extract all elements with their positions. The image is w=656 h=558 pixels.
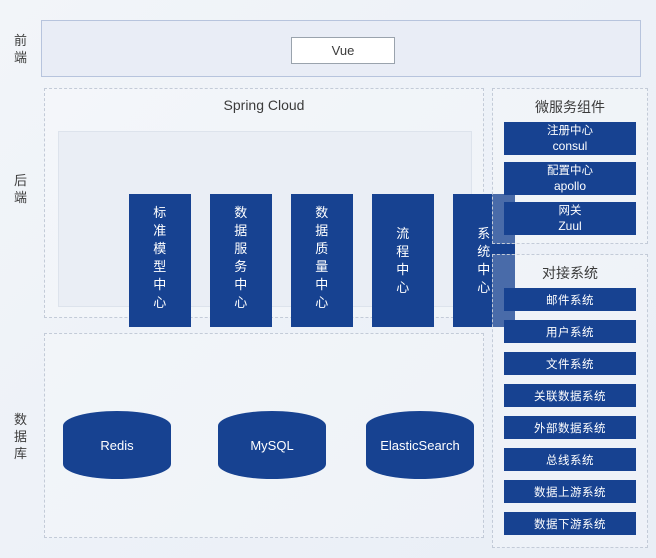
microservice-item[interactable]: 注册中心 consul — [504, 122, 636, 155]
microservice-item-tech: apollo — [504, 179, 636, 194]
docking-system-item[interactable]: 数据下游系统 — [504, 512, 636, 535]
row-label-frontend: 前端 — [8, 32, 34, 66]
docking-systems-list: 邮件系统 用户系统 文件系统 关联数据系统 外部数据系统 总线系统 数据上游系统… — [504, 288, 636, 544]
spring-cloud-panel: Spring Cloud 标准模型中心 数据服务中心 数据质量中心 流程中心 系… — [44, 88, 484, 318]
docking-system-item[interactable]: 总线系统 — [504, 448, 636, 471]
microservice-item-name: 网关 — [559, 205, 582, 217]
database-label: ElasticSearch — [380, 438, 459, 453]
docking-system-item[interactable]: 数据上游系统 — [504, 480, 636, 503]
docking-system-label: 文件系统 — [546, 356, 594, 372]
database-cylinder[interactable]: ElasticSearch — [366, 411, 474, 479]
center-card-label: 数据质量中心 — [314, 204, 330, 312]
center-card[interactable]: 流程中心 — [372, 194, 434, 327]
vue-box[interactable]: Vue — [291, 37, 395, 64]
database-cylinder[interactable]: Redis — [63, 411, 171, 479]
docking-system-item[interactable]: 文件系统 — [504, 352, 636, 375]
database-label: Redis — [100, 438, 133, 453]
database-cylinder[interactable]: MySQL — [218, 411, 326, 479]
center-card-label: 系统中心 — [476, 225, 492, 297]
docking-system-label: 外部数据系统 — [534, 420, 606, 436]
docking-system-label: 用户系统 — [546, 324, 594, 340]
docking-system-item[interactable]: 邮件系统 — [504, 288, 636, 311]
center-card-label: 数据服务中心 — [233, 204, 249, 312]
microservice-item-name: 注册中心 — [547, 125, 593, 137]
microservice-list: 注册中心 consul 配置中心 apollo 网关 Zuul — [504, 122, 636, 242]
docking-system-item[interactable]: 关联数据系统 — [504, 384, 636, 407]
database-label: MySQL — [250, 438, 293, 453]
center-card[interactable]: 数据服务中心 — [210, 194, 272, 327]
docking-panel-title: 对接系统 — [493, 263, 647, 283]
architecture-diagram: 前端 后端 数据库 Vue Spring Cloud 标准模型中心 数据服务中心… — [0, 0, 656, 558]
row-label-database: 数据库 — [8, 411, 34, 462]
spring-cloud-inner-panel: 标准模型中心 数据服务中心 数据质量中心 流程中心 系统中心 — [58, 131, 472, 307]
docking-system-label: 数据上游系统 — [534, 484, 606, 500]
microservice-item-name: 配置中心 — [547, 165, 593, 177]
docking-system-item[interactable]: 用户系统 — [504, 320, 636, 343]
row-label-backend: 后端 — [8, 172, 34, 206]
microservice-panel-title: 微服务组件 — [493, 97, 647, 117]
center-card-label: 流程中心 — [395, 225, 411, 297]
docking-system-label: 邮件系统 — [546, 292, 594, 308]
center-card[interactable]: 标准模型中心 — [129, 194, 191, 327]
docking-system-label: 关联数据系统 — [534, 388, 606, 404]
microservice-item[interactable]: 网关 Zuul — [504, 202, 636, 235]
frontend-panel: Vue — [41, 20, 641, 77]
microservice-item-tech: Zuul — [504, 219, 636, 234]
docking-systems-panel: 对接系统 邮件系统 用户系统 文件系统 关联数据系统 外部数据系统 总线系统 数… — [492, 254, 648, 548]
docking-system-label: 数据下游系统 — [534, 516, 606, 532]
docking-system-label: 总线系统 — [546, 452, 594, 468]
database-panel: Redis MySQL ElasticSearch — [44, 333, 484, 538]
center-card[interactable]: 数据质量中心 — [291, 194, 353, 327]
spring-cloud-title: Spring Cloud — [45, 97, 483, 113]
microservice-components-panel: 微服务组件 注册中心 consul 配置中心 apollo 网关 Zuul — [492, 88, 648, 244]
docking-system-item[interactable]: 外部数据系统 — [504, 416, 636, 439]
center-card-label: 标准模型中心 — [152, 204, 168, 312]
microservice-item[interactable]: 配置中心 apollo — [504, 162, 636, 195]
microservice-item-tech: consul — [504, 139, 636, 154]
